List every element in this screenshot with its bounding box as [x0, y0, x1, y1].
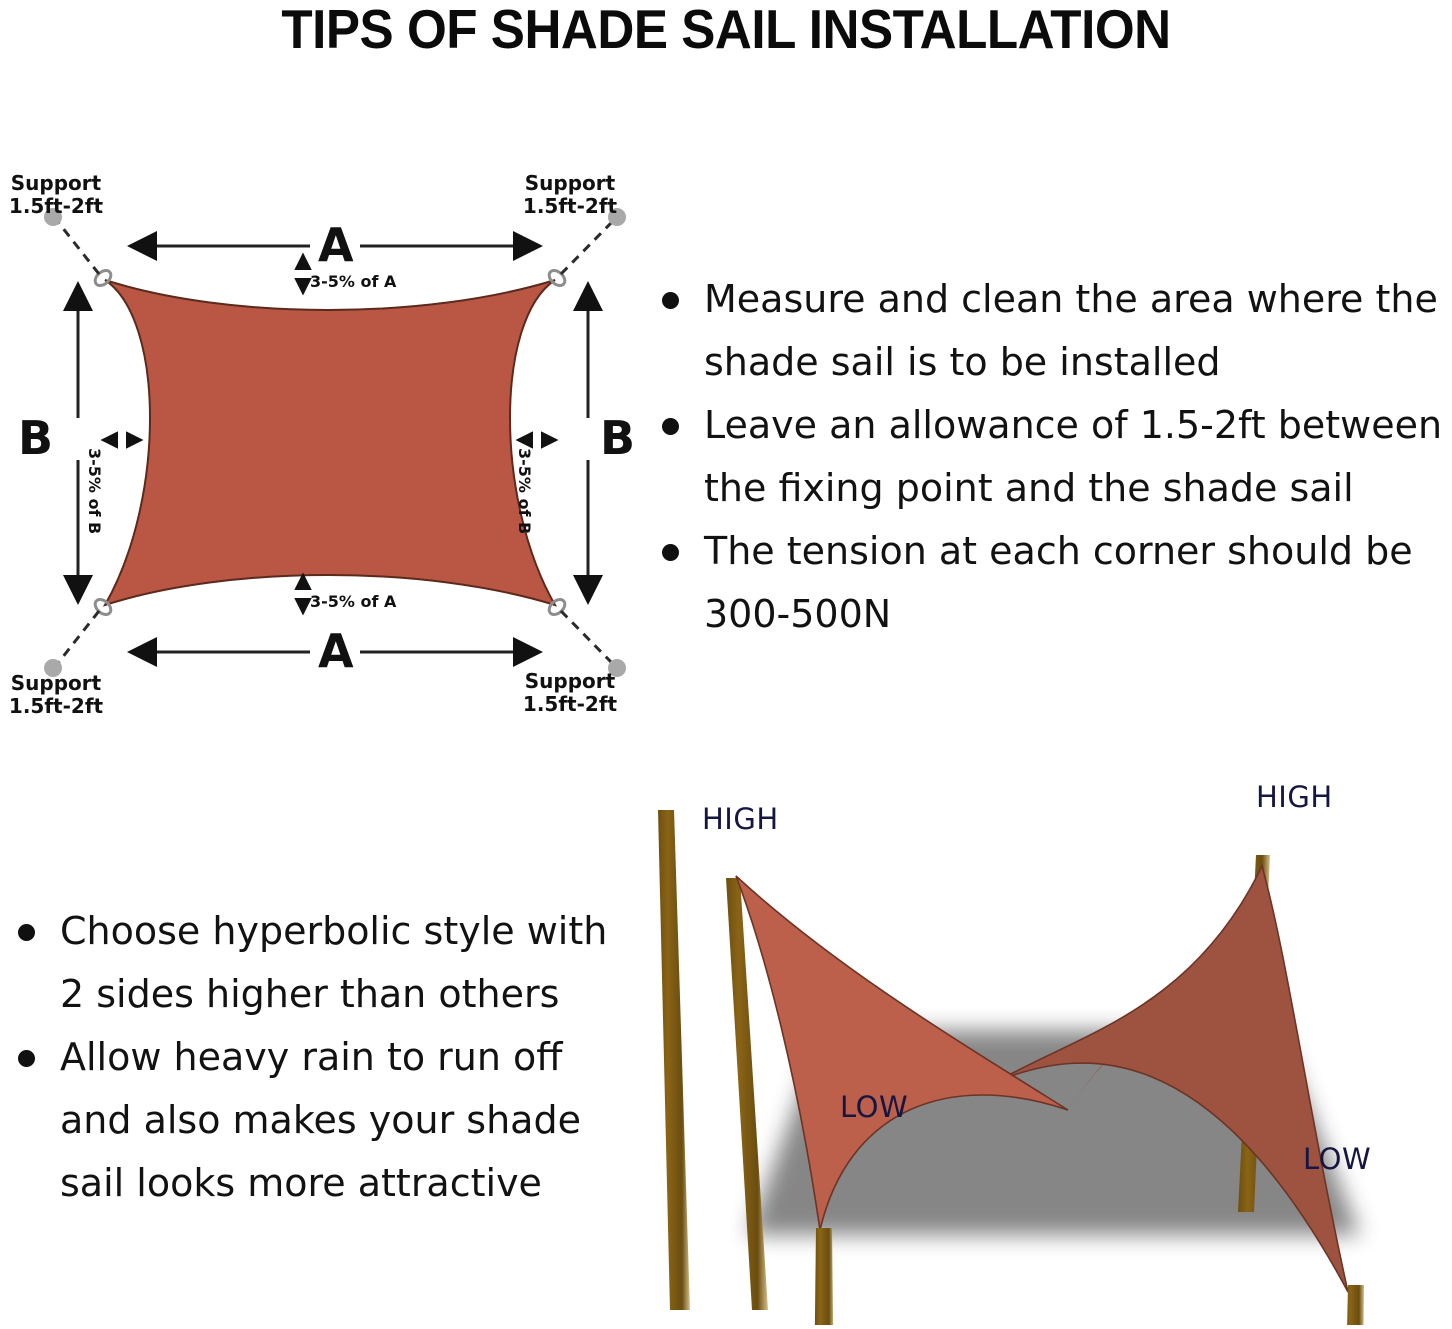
- bullet-dot-icon: [18, 924, 35, 941]
- tips-bullet-list: Measure and clean the area where the sha…: [648, 268, 1452, 646]
- support-label-line2: 1.5ft-2ft: [9, 194, 103, 218]
- support-label-top-right: Support 1.5ft-2ft: [505, 172, 635, 218]
- shade-sail-shape: [105, 280, 555, 605]
- curvature-label-top: 3-5% of A: [310, 272, 396, 291]
- list-item: Allow heavy rain to run off and also mak…: [4, 1026, 632, 1215]
- curvature-label-right: 3-5% of B: [515, 448, 534, 534]
- label-high-left: HIGH: [702, 802, 779, 836]
- list-item-text: Allow heavy rain to run off and also mak…: [60, 1035, 581, 1205]
- page-title: TIPS OF SHADE SAIL INSTALLATION: [51, 0, 1401, 60]
- list-item: Measure and clean the area where the sha…: [648, 268, 1452, 394]
- bullet-dot-icon: [18, 1050, 35, 1067]
- dimension-letter-a-bottom: A: [318, 628, 354, 674]
- list-item-text: The tension at each corner should be 300…: [704, 529, 1413, 636]
- list-item-text: Choose hyperbolic style with 2 sides hig…: [60, 909, 607, 1016]
- bullet-dot-icon: [662, 544, 679, 561]
- pole-front-left: [658, 810, 690, 1310]
- dimension-letter-a-top: A: [318, 222, 354, 268]
- support-label-line1: Support: [525, 171, 615, 195]
- dimension-letter-b-right: B: [600, 415, 635, 461]
- list-item: Choose hyperbolic style with 2 sides hig…: [4, 900, 632, 1026]
- curvature-label-bottom: 3-5% of A: [310, 592, 396, 611]
- support-label-line2: 1.5ft-2ft: [523, 692, 617, 716]
- label-high-right: HIGH: [1256, 780, 1333, 814]
- support-label-line2: 1.5ft-2ft: [9, 694, 103, 718]
- list-item-text: Measure and clean the area where the sha…: [704, 277, 1438, 384]
- hyperbolic-tips-list: Choose hyperbolic style with 2 sides hig…: [4, 900, 632, 1215]
- label-low-left: LOW: [840, 1090, 908, 1124]
- support-label-line1: Support: [11, 171, 101, 195]
- curvature-label-left: 3-5% of B: [85, 448, 104, 534]
- support-label-top-left: Support 1.5ft-2ft: [0, 172, 112, 218]
- support-label-line1: Support: [525, 669, 615, 693]
- support-label-line2: 1.5ft-2ft: [523, 194, 617, 218]
- bullet-dot-icon: [662, 292, 679, 309]
- rectangular-sail-dimension-diagram: Support 1.5ft-2ft Support 1.5ft-2ft Supp…: [0, 160, 660, 730]
- installation-tips-list: Measure and clean the area where the sha…: [648, 268, 1452, 646]
- support-label-bottom-left: Support 1.5ft-2ft: [0, 672, 112, 718]
- list-item: The tension at each corner should be 300…: [648, 520, 1452, 646]
- bullet-dot-icon: [662, 418, 679, 435]
- label-low-right: LOW: [1303, 1142, 1371, 1176]
- support-label-bottom-right: Support 1.5ft-2ft: [505, 670, 635, 716]
- bottom-bullet-list: Choose hyperbolic style with 2 sides hig…: [4, 900, 632, 1215]
- pole-front-left-low: [814, 1228, 834, 1325]
- list-item-text: Leave an allowance of 1.5-2ft between th…: [704, 403, 1442, 510]
- dimension-letter-b-left: B: [18, 415, 53, 461]
- support-label-line1: Support: [11, 671, 101, 695]
- hyperbolic-sail-illustration: HIGH HIGH LOW LOW: [648, 780, 1452, 1325]
- list-item: Leave an allowance of 1.5-2ft between th…: [648, 394, 1452, 520]
